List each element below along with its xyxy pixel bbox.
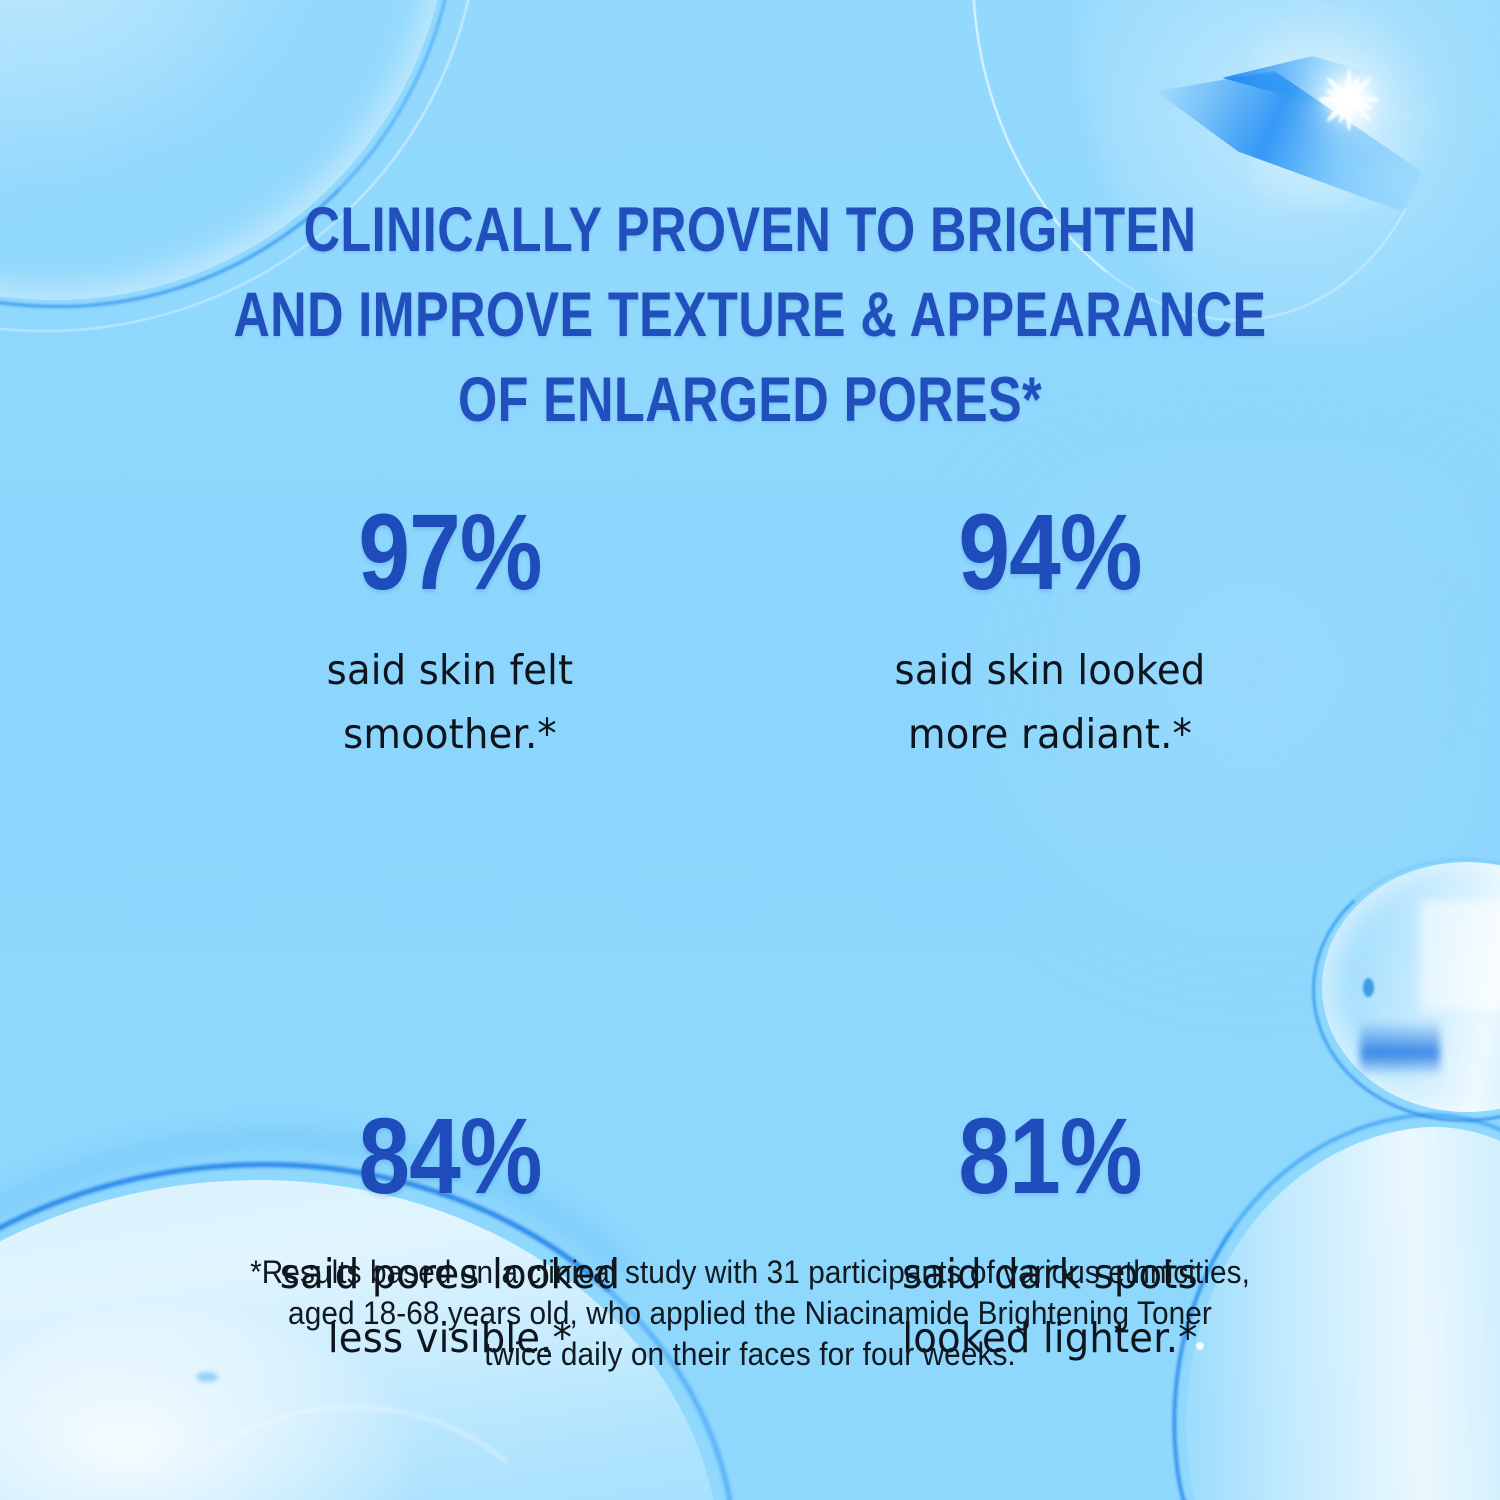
page-title: CLINICALLY PROVEN TO BRIGHTEN AND IMPROV… bbox=[150, 188, 1350, 443]
stat-description-line-2: smoother.* bbox=[168, 702, 732, 766]
stats-grid: 97% said skin felt smoother.* 94% said s… bbox=[150, 500, 1350, 1370]
content-layer: CLINICALLY PROVEN TO BRIGHTEN AND IMPROV… bbox=[0, 0, 1500, 1500]
stats-row-top: 97% said skin felt smoother.* 94% said s… bbox=[150, 500, 1350, 766]
marketing-claims-poster: CLINICALLY PROVEN TO BRIGHTEN AND IMPROV… bbox=[0, 0, 1500, 1500]
footnote-disclaimer: *Results based on a clinical study with … bbox=[53, 1252, 1448, 1375]
stat-description: said skin felt smoother.* bbox=[168, 638, 732, 766]
stat-description-line-1: said skin looked bbox=[768, 638, 1332, 702]
stat-description-line-2: more radiant.* bbox=[768, 702, 1332, 766]
stat-value: 94% bbox=[792, 500, 1308, 604]
stat-value: 84% bbox=[192, 1104, 708, 1208]
stat-description: said skin looked more radiant.* bbox=[768, 638, 1332, 766]
stat-value: 81% bbox=[792, 1104, 1308, 1208]
stat-description-line-1: said skin felt bbox=[168, 638, 732, 702]
headline-line-2: AND IMPROVE TEXTURE & APPEARANCE bbox=[150, 273, 1350, 358]
headline-line-3: OF ENLARGED PORES* bbox=[150, 358, 1350, 443]
stat-value: 97% bbox=[192, 500, 708, 604]
stat-block-radiant: 94% said skin looked more radiant.* bbox=[750, 500, 1350, 766]
stat-block-smoother: 97% said skin felt smoother.* bbox=[150, 500, 750, 766]
footnote-line-1: *Results based on a clinical study with … bbox=[53, 1252, 1448, 1293]
headline-line-1: CLINICALLY PROVEN TO BRIGHTEN bbox=[150, 188, 1350, 273]
footnote-line-3: twice daily on their faces for four week… bbox=[53, 1334, 1448, 1375]
footnote-line-2: aged 18-68 years old, who applied the Ni… bbox=[53, 1293, 1448, 1334]
